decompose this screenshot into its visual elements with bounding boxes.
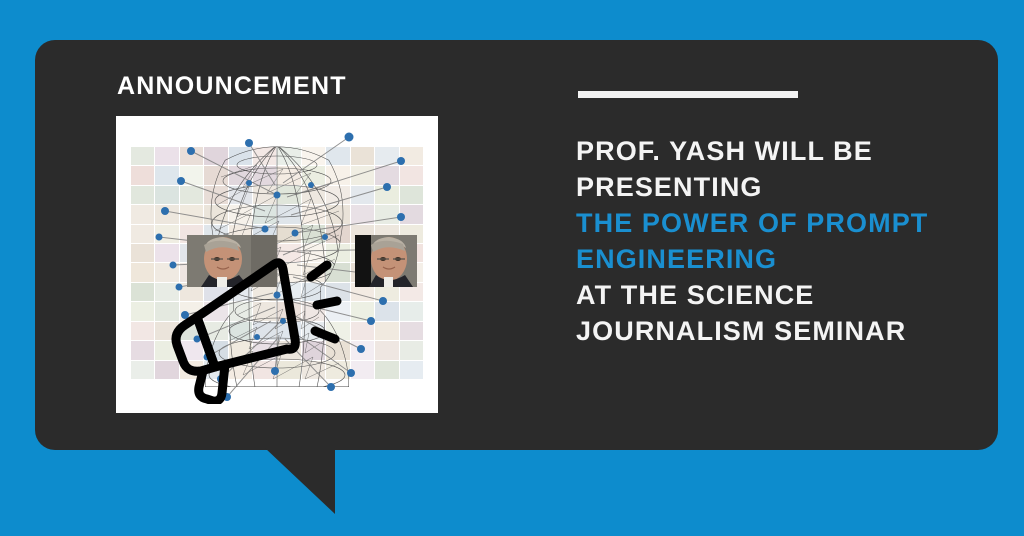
headline-line-3: THE POWER OF PROMPT [576, 205, 976, 241]
speech-bubble-tail [265, 448, 335, 514]
illustration-image [125, 125, 429, 404]
headline-line-6: JOURNALISM SEMINAR [576, 313, 976, 349]
illustration-frame [116, 116, 438, 413]
announcement-label: ANNOUNCEMENT [117, 72, 347, 101]
announcement-banner: ANNOUNCEMENT [0, 0, 1024, 536]
headline-block: PROF. YASH WILL BE PRESENTING THE POWER … [576, 133, 976, 349]
headline-line-1: PROF. YASH WILL BE [576, 133, 976, 169]
headline-line-2: PRESENTING [576, 169, 976, 205]
megaphone-icon [125, 125, 429, 404]
headline-divider [578, 91, 798, 98]
headline-line-5: AT THE SCIENCE [576, 277, 976, 313]
headline-line-4: ENGINEERING [576, 241, 976, 277]
